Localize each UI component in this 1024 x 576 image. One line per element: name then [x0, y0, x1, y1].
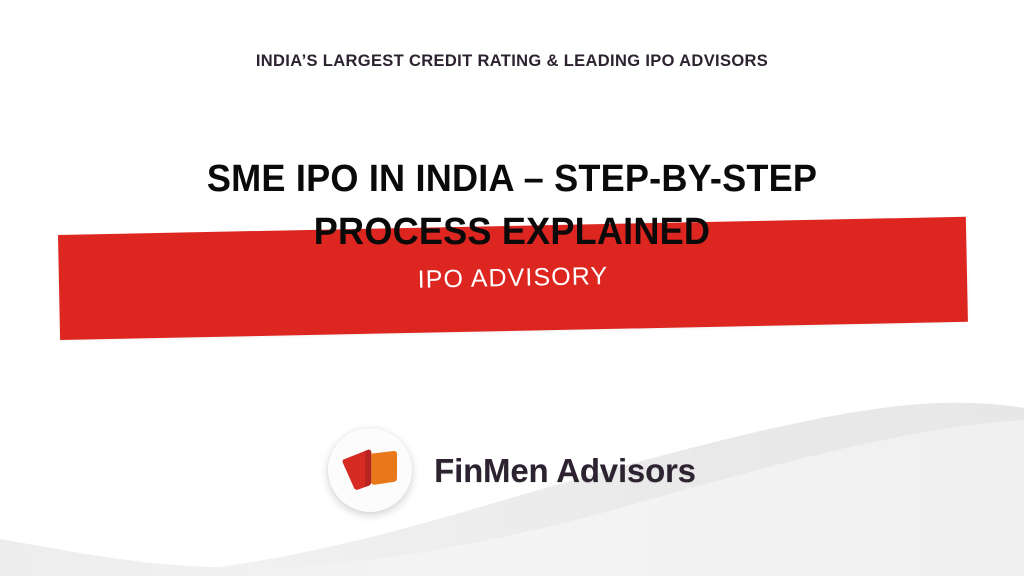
blog-cover-canvas: INDIA’S LARGEST CREDIT RATING & LEADING …: [0, 0, 1024, 576]
kicker-text: INDIA’S LARGEST CREDIT RATING & LEADING …: [0, 52, 1024, 72]
brand-lockup[interactable]: FinMen Advisors: [0, 424, 1024, 516]
brand-logo-circle: [328, 428, 412, 512]
brand-name-text: FinMen Advisors: [434, 454, 696, 487]
finmen-book-logo-icon: [342, 445, 398, 495]
page-title: SME IPO IN INDIA – STEP-BY-STEP PROCESS …: [132, 153, 892, 258]
